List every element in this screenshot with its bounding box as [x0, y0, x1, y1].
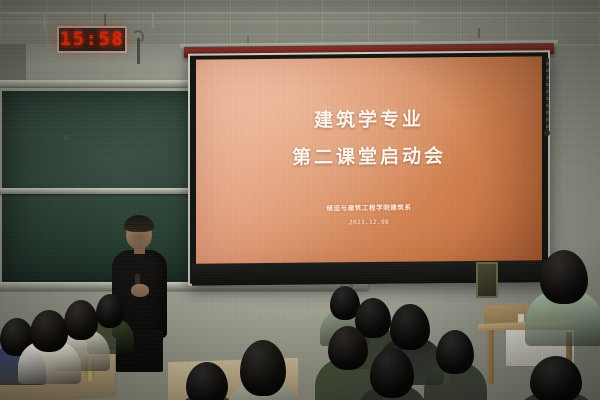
- wall-picture-frame: [476, 262, 498, 298]
- audience-head: [240, 340, 286, 396]
- audience-member: [30, 310, 68, 392]
- screen-mount-bracket: [478, 28, 480, 38]
- audience-head: [390, 304, 430, 350]
- audience-member: [370, 348, 414, 400]
- screen-pull-chain[interactable]: [546, 58, 549, 132]
- audience-member: [436, 330, 474, 400]
- slide-title-line-1: 建筑学专业: [314, 109, 424, 131]
- presenter-hair: [124, 215, 154, 232]
- audience-member: [328, 326, 368, 400]
- classroom-photo: 15:58 建筑学专业 第二课堂启动会 储运与建筑工程学院建筑系 2023.12…: [0, 0, 600, 400]
- audience-head: [540, 250, 588, 304]
- audience-head: [370, 348, 414, 398]
- slide-date: 2023.12.08: [349, 219, 389, 226]
- audience-member: [530, 356, 582, 400]
- hanging-cable: [137, 38, 140, 64]
- audience-head: [530, 356, 582, 400]
- clock-time-display: 15:58: [60, 30, 125, 49]
- projection-screen: 建筑学专业 第二课堂启动会 储运与建筑工程学院建筑系 2023.12.08: [196, 56, 542, 267]
- slide-title-line-2: 第二课堂启动会: [292, 146, 446, 168]
- conduit-drop: [152, 12, 155, 28]
- slide-organization: 储运与建筑工程学院建筑系: [326, 201, 411, 212]
- screen-pull-chain-tip[interactable]: [544, 130, 550, 136]
- audience-head: [436, 330, 474, 374]
- audience-member: [540, 250, 588, 344]
- audience-head: [186, 362, 228, 400]
- audience-member: [240, 340, 286, 400]
- audience-head: [96, 294, 124, 328]
- digital-wall-clock: 15:58: [57, 26, 127, 53]
- audience-head: [328, 326, 368, 370]
- audience-member: [186, 362, 228, 400]
- slide-content: 建筑学专业 第二课堂启动会 储运与建筑工程学院建筑系 2023.12.08: [196, 56, 542, 267]
- ceiling-conduit-pipe: [0, 21, 420, 24]
- presenter-face: [128, 230, 150, 245]
- audience-head: [64, 300, 98, 340]
- ceiling-conduit-pipe: [0, 12, 600, 15]
- presenter-hands: [131, 284, 149, 297]
- audience-head: [30, 310, 68, 352]
- lectern-leg: [487, 330, 494, 384]
- conduit-drop: [44, 12, 47, 30]
